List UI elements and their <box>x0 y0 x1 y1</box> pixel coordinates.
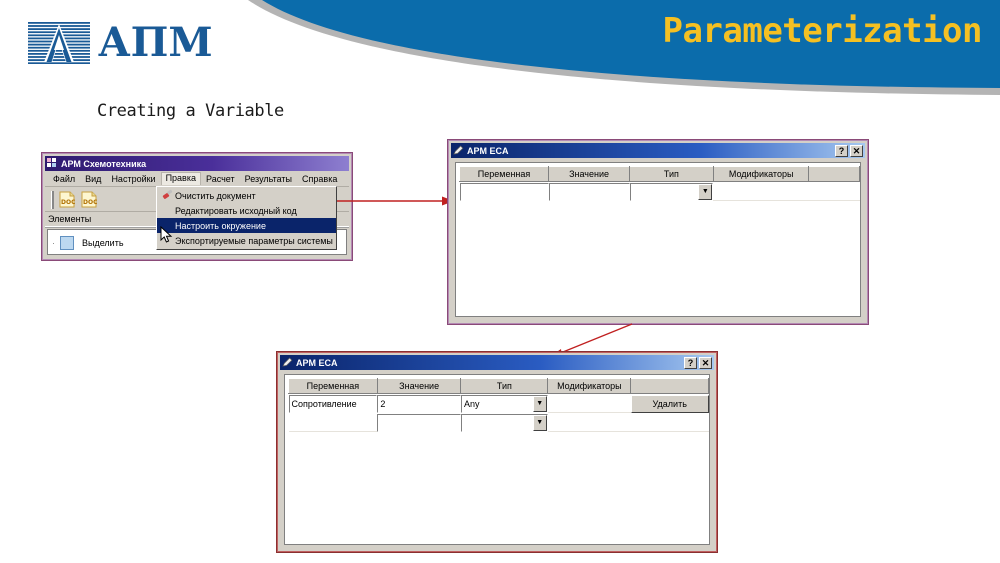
help-button[interactable]: ? <box>835 145 848 157</box>
app-icon <box>47 158 58 169</box>
cell-action[interactable] <box>809 182 860 202</box>
cell-value[interactable] <box>549 182 630 202</box>
menu-item-edit[interactable]: Правка <box>161 172 201 185</box>
pencil-icon <box>282 357 293 368</box>
menu-item-settings[interactable]: Настройки <box>106 173 160 185</box>
titlebar-apm-eca-empty[interactable]: APM ECA ? ✕ <box>451 143 865 158</box>
cell-variable[interactable] <box>289 413 378 432</box>
table-header-row: Переменная Значение Тип Модификаторы <box>289 379 709 394</box>
modifiers-value <box>713 183 809 201</box>
slide-subtitle: Creating a Variable <box>97 101 284 121</box>
document-icon[interactable]: DOC <box>59 191 75 208</box>
cell-action[interactable] <box>631 413 709 432</box>
menu-option-edit-source-code[interactable]: Редактировать исходный код <box>157 203 336 218</box>
cell-variable[interactable]: Сопротивление <box>289 394 378 414</box>
modifiers-value <box>548 414 631 432</box>
cell-value[interactable] <box>377 413 461 432</box>
window-apm-eca-empty-inner: APM ECA ? ✕ Переменная Значение <box>451 143 865 321</box>
column-header-actions[interactable] <box>809 167 860 182</box>
type-select[interactable]: ▼ <box>630 183 714 201</box>
titlebar-apm-schematic[interactable]: АРМ Схемотехника <box>45 156 349 171</box>
column-header-value[interactable]: Значение <box>377 379 461 394</box>
eraser-icon <box>159 189 175 203</box>
table-row[interactable]: ▼ <box>460 182 860 202</box>
titlebar-apm-schematic-label: АРМ Схемотехника <box>61 159 347 169</box>
tree-item-icon <box>60 236 74 250</box>
column-header-type[interactable]: Тип <box>461 379 548 394</box>
menu-option-edit-source-code-label: Редактировать исходный код <box>175 206 297 216</box>
table-row[interactable]: Сопротивление 2 Any ▼ <box>289 394 709 414</box>
page-title: Parameterization <box>662 14 982 48</box>
cell-type[interactable]: ▼ <box>461 413 548 432</box>
eca-filled-body: Переменная Значение Тип Модификаторы Соп… <box>284 374 710 545</box>
close-button[interactable]: ✕ <box>850 145 863 157</box>
toolbar-grip[interactable] <box>51 191 54 209</box>
titlebar-buttons-empty[interactable]: ? ✕ <box>835 145 863 157</box>
menu-option-configure-environment[interactable]: Настроить окружение <box>157 218 336 233</box>
type-select-value: Any <box>462 399 533 409</box>
menu-option-configure-environment-label: Настроить окружение <box>175 221 266 231</box>
titlebar-buttons-filled[interactable]: ? ✕ <box>684 357 712 369</box>
variable-input[interactable] <box>289 414 378 432</box>
cell-modifiers[interactable] <box>548 413 631 432</box>
svg-text:DOC: DOC <box>61 199 75 206</box>
close-button[interactable]: ✕ <box>699 357 712 369</box>
type-select[interactable]: ▼ <box>461 414 548 432</box>
modifiers-value <box>548 395 631 413</box>
cell-variable[interactable] <box>460 182 549 202</box>
menu-item-results[interactable]: Результаты <box>240 173 297 185</box>
tree-item-label: Выделить <box>82 238 124 248</box>
value-input[interactable] <box>377 414 461 432</box>
titlebar-apm-eca-filled-label: APM ECA <box>296 358 684 368</box>
window-apm-eca-filled-inner: APM ECA ? ✕ Переменная Значение <box>280 355 714 549</box>
menu-item-file[interactable]: Файл <box>48 173 80 185</box>
column-header-modifiers[interactable]: Модификаторы <box>713 167 809 182</box>
action-cell <box>631 414 709 432</box>
titlebar-apm-eca-empty-label: APM ECA <box>467 146 835 156</box>
type-select[interactable]: Any ▼ <box>461 395 548 413</box>
column-header-type[interactable]: Тип <box>630 167 714 182</box>
value-input[interactable]: 2 <box>377 395 461 413</box>
tree-expander-icon[interactable]: · <box>52 238 60 248</box>
window-apm-eca-empty[interactable]: APM ECA ? ✕ Переменная Значение <box>448 140 868 324</box>
variable-input[interactable] <box>460 183 549 201</box>
value-input[interactable] <box>549 183 630 201</box>
menu-item-help[interactable]: Справка <box>297 173 342 185</box>
cell-modifiers[interactable] <box>713 182 809 202</box>
column-header-value[interactable]: Значение <box>549 167 630 182</box>
menu-option-export-system-parameters[interactable]: Экспортируемые параметры системы <box>157 233 336 248</box>
column-header-variable[interactable]: Переменная <box>460 167 549 182</box>
menu-dropdown-edit[interactable]: Очистить документ Редактировать исходный… <box>156 186 337 250</box>
menubar-apm-schematic[interactable]: Файл Вид Настройки Правка Расчет Результ… <box>45 171 349 187</box>
column-header-modifiers[interactable]: Модификаторы <box>548 379 631 394</box>
chevron-down-icon[interactable]: ▼ <box>533 396 547 412</box>
svg-text:DOC: DOC <box>83 199 97 206</box>
titlebar-apm-eca-filled[interactable]: APM ECA ? ✕ <box>280 355 714 370</box>
cell-type[interactable]: Any ▼ <box>461 394 548 414</box>
cell-type[interactable]: ▼ <box>630 182 714 202</box>
menu-item-calculation[interactable]: Расчет <box>201 173 240 185</box>
column-header-actions[interactable] <box>631 379 709 394</box>
cell-modifiers[interactable] <box>548 394 631 414</box>
apm-logo-mark <box>28 22 90 64</box>
document-icon[interactable]: DOC <box>81 191 97 208</box>
pencil-icon <box>453 145 464 156</box>
delete-button[interactable]: Удалить <box>631 395 709 413</box>
table-row[interactable]: ▼ <box>289 413 709 432</box>
menu-item-view[interactable]: Вид <box>80 173 106 185</box>
apm-logo-text: АПМ <box>98 23 213 63</box>
arrow-menu-to-eca-empty <box>336 193 454 209</box>
chevron-down-icon[interactable]: ▼ <box>533 415 547 431</box>
panel-label-elements: Элементы <box>48 214 91 224</box>
menu-option-clear-document[interactable]: Очистить документ <box>157 188 336 203</box>
eca-empty-body: Переменная Значение Тип Модификаторы <box>455 162 861 317</box>
help-button[interactable]: ? <box>684 357 697 369</box>
cell-value[interactable]: 2 <box>377 394 461 414</box>
cell-action[interactable]: Удалить <box>631 394 709 414</box>
column-header-variable[interactable]: Переменная <box>289 379 378 394</box>
variables-table-filled[interactable]: Переменная Значение Тип Модификаторы Соп… <box>288 378 709 432</box>
variable-input[interactable]: Сопротивление <box>289 395 378 413</box>
apm-logo: АПМ <box>28 22 213 64</box>
menu-option-clear-document-label: Очистить документ <box>175 191 256 201</box>
window-apm-eca-filled[interactable]: APM ECA ? ✕ Переменная Значение <box>277 352 717 552</box>
table-header-row: Переменная Значение Тип Модификаторы <box>460 167 860 182</box>
chevron-down-icon[interactable]: ▼ <box>698 184 712 200</box>
variables-table-empty[interactable]: Переменная Значение Тип Модификаторы <box>459 166 860 201</box>
action-cell <box>809 183 860 201</box>
menu-option-export-system-parameters-label: Экспортируемые параметры системы <box>175 236 333 246</box>
